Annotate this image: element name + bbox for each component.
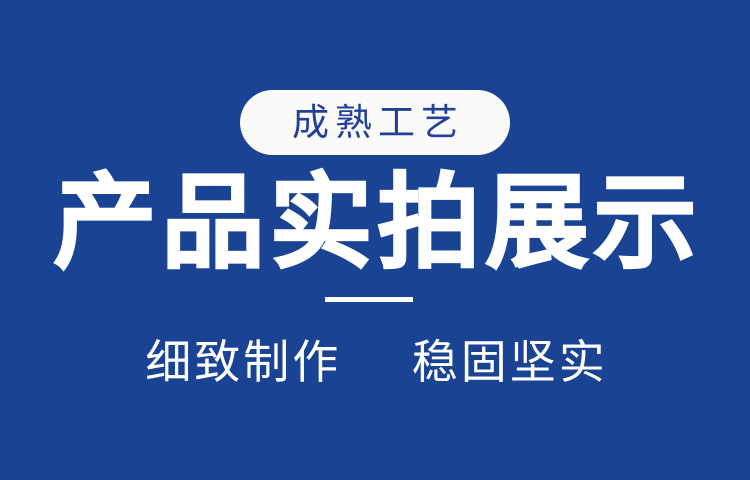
promo-banner: 成熟工艺 产品实拍展示 细致制作 稳固坚实 [0, 0, 750, 480]
subtitle: 细致制作 稳固坚实 [0, 333, 750, 391]
badge-label: 成熟工艺 [286, 104, 464, 141]
page-title: 产品实拍展示 [0, 168, 750, 278]
badge-pill: 成熟工艺 [240, 90, 510, 155]
title-divider [325, 297, 413, 302]
